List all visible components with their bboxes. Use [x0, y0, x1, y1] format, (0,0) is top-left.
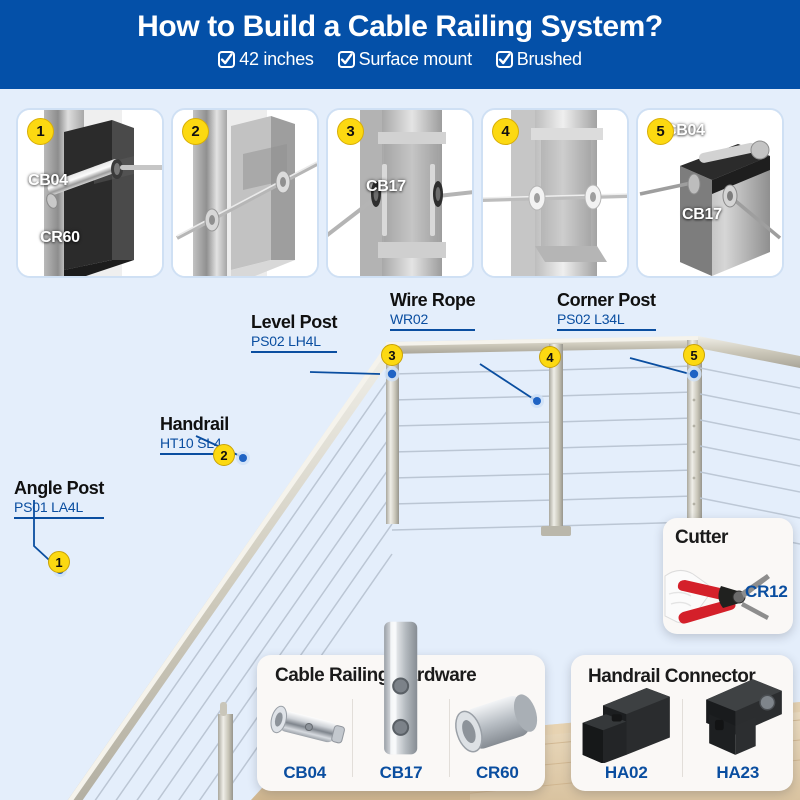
feature-label: Surface mount: [359, 49, 472, 70]
checkbox-checked-icon: [218, 51, 235, 68]
feature-label: Brushed: [517, 49, 582, 70]
callout-angle-post: Angle Post PS01 LA4L: [14, 478, 104, 519]
step-card-2[interactable]: 2: [171, 108, 319, 278]
step-badge-2: 2: [182, 118, 209, 145]
callout-code: PS02 L34L: [557, 311, 656, 331]
part-code-cr12: CR12: [745, 582, 788, 602]
diagram-badge-1: 1: [48, 551, 70, 573]
callout-code: PS02 LH4L: [251, 333, 337, 353]
ha02-image: [571, 671, 682, 763]
callout-code: WR02: [390, 311, 475, 331]
checkbox-checked-icon: [338, 51, 355, 68]
part-code-ha02: HA02: [605, 763, 648, 791]
callout-wire-rope: Wire Rope WR02: [390, 290, 475, 331]
feature-item-mount: Surface mount: [338, 49, 472, 70]
callout-corner-post: Corner Post PS02 L34L: [557, 290, 656, 331]
cb04-image: [257, 691, 352, 763]
installation-steps: CB04 CR60 1: [16, 108, 784, 278]
diagram-badge-4: 4: [539, 346, 561, 368]
page-header: How to Build a Cable Railing System? 42 …: [0, 0, 800, 89]
diagram-badge-5: 5: [683, 344, 705, 366]
callout-code: PS01 LA4L: [14, 499, 104, 519]
diagram-badge-2: 2: [213, 444, 235, 466]
part-tag-cb17: CB17: [682, 206, 722, 224]
step-badge-3: 3: [337, 118, 364, 145]
part-tag-cr60: CR60: [40, 229, 80, 247]
callout-title: Corner Post: [557, 290, 656, 311]
part-code-ha23: HA23: [716, 763, 759, 791]
step-badge-5: 5: [647, 118, 674, 145]
checkbox-checked-icon: [496, 51, 513, 68]
page-title: How to Build a Cable Railing System?: [0, 0, 800, 44]
cr60-image: [450, 684, 545, 763]
step-badge-1: 1: [27, 118, 54, 145]
hardware-item-cr60[interactable]: CR60: [450, 691, 545, 791]
panel-title: Cutter: [675, 527, 728, 549]
hardware-item-cb04[interactable]: CB04: [257, 691, 352, 791]
cable-railing-hardware-panel[interactable]: Cable Railing Hardware: [257, 655, 545, 791]
step-card-3[interactable]: CB17 3: [326, 108, 474, 278]
connector-item-ha23[interactable]: HA23: [683, 691, 794, 791]
cb17-image: [353, 613, 448, 763]
step-card-4[interactable]: 4: [481, 108, 629, 278]
feature-list: 42 inches Surface mount Brushed: [0, 49, 800, 70]
step-badge-4: 4: [492, 118, 519, 145]
callout-title: Wire Rope: [390, 290, 475, 311]
part-code-cb04: CB04: [283, 763, 326, 791]
feature-item-finish: Brushed: [496, 49, 582, 70]
part-code-cr60: CR60: [476, 763, 519, 791]
ha23-image: [683, 668, 794, 763]
feature-label: 42 inches: [239, 49, 313, 70]
callout-title: Handrail: [160, 414, 229, 435]
callout-title: Angle Post: [14, 478, 104, 499]
part-tag-cb04: CB04: [28, 172, 68, 190]
step-card-1[interactable]: CB04 CR60 1: [16, 108, 164, 278]
hardware-item-cb17[interactable]: CB17: [353, 691, 448, 791]
diagram-badge-3: 3: [381, 344, 403, 366]
step-card-5[interactable]: CB04 CB17 5: [636, 108, 784, 278]
part-tag-cb17: CB17: [366, 178, 406, 196]
connector-item-ha02[interactable]: HA02: [571, 691, 682, 791]
handrail-connector-panel[interactable]: Handrail Connector HA02: [571, 655, 793, 791]
connector-items: HA02 HA23: [571, 655, 793, 791]
cutter-panel[interactable]: Cutter CR12: [663, 518, 793, 634]
callout-title: Level Post: [251, 312, 337, 333]
part-code-cb17: CB17: [380, 763, 423, 791]
callout-level-post: Level Post PS02 LH4L: [251, 312, 337, 353]
feature-item-height: 42 inches: [218, 49, 313, 70]
